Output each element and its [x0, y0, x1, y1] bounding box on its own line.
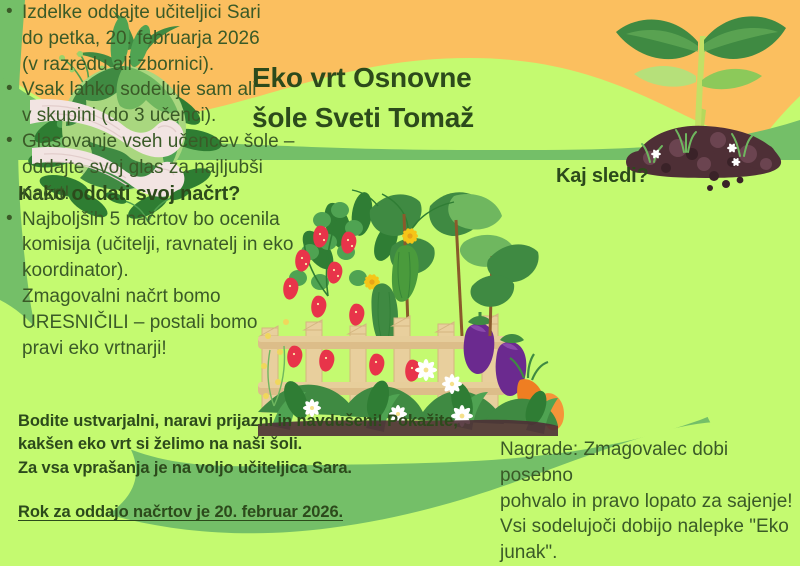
list-item: Najboljših 5 načrtov bo ocenila komisija… — [0, 207, 296, 284]
prizes-note: Nagrade: Zmagovalec dobi posebno pohvalo… — [500, 437, 800, 566]
deadline-text: Rok za oddajo načrtov je 20. februar 202… — [18, 503, 438, 522]
next-steps-list: Glasovanje vseh učencev šole – oddajte s… — [0, 129, 296, 361]
prizes-line-1: Nagrade: Zmagovalec dobi posebno — [500, 437, 800, 489]
prizes-line-3: Vsi sodelujoči dobijo nalepke "Eko — [500, 514, 800, 540]
submission-instructions-list: Izdelke oddajte učiteljici Sari do petka… — [0, 0, 270, 129]
list-item: Izdelke oddajte učiteljici Sari do petka… — [0, 0, 270, 77]
encouragement-line-2: kakšen eko vrt si želimo na naši šoli. — [18, 433, 488, 456]
encouragement-line-3: Za vsa vprašanja je na voljo učiteljica … — [18, 457, 488, 480]
poster-canvas: Eko vrt Osnovne šole Sveti Tomaž Kako od… — [0, 0, 800, 566]
encouragement-line-1: Bodite ustvarjalni, naravi prijazni in n… — [18, 410, 488, 433]
title-line-2: šole Sveti Tomaž — [252, 98, 582, 138]
encouragement-text: Bodite ustvarjalni, naravi prijazni in n… — [18, 410, 488, 480]
title-line-1: Eko vrt Osnovne — [252, 58, 582, 98]
prizes-line-2: pohvalo in pravo lopato za sajenje! — [500, 489, 800, 515]
list-item: Zmagovalni načrt bomo URESNIČILI – posta… — [0, 284, 296, 361]
prizes-line-4: junak". — [500, 540, 800, 566]
list-item: Vsak lahko sodeluje sam ali v skupini (d… — [0, 77, 270, 129]
poster-title: Eko vrt Osnovne šole Sveti Tomaž — [252, 58, 582, 138]
list-item: Glasovanje vseh učencev šole – oddajte s… — [0, 129, 296, 206]
right-column-heading: Kaj sledi? — [556, 165, 796, 188]
